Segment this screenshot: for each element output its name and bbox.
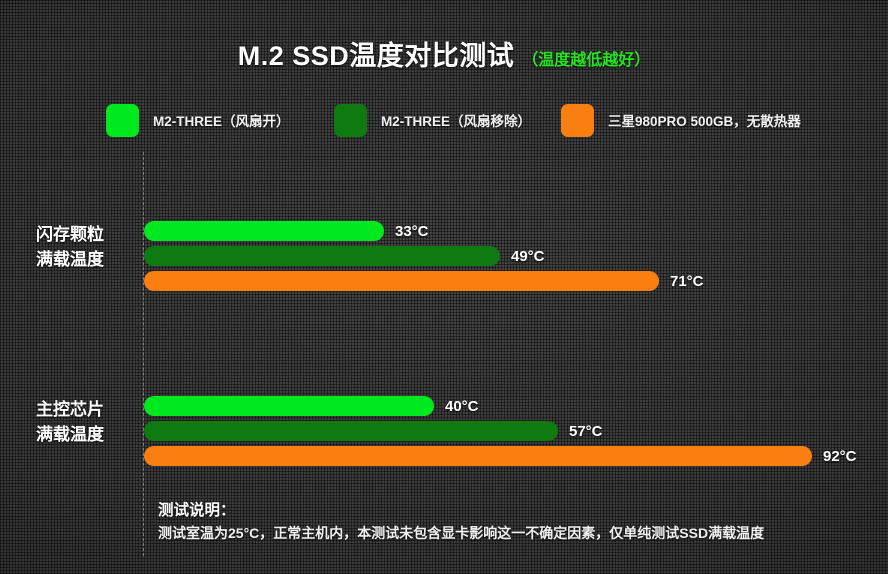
category-label-line: 满载温度 (36, 422, 136, 447)
bar (144, 271, 659, 291)
footnote-title: 测试说明： (158, 500, 878, 522)
bar-row: 33°C (144, 221, 429, 241)
bar (144, 246, 500, 266)
axis-baseline (143, 152, 144, 556)
bar (144, 446, 812, 466)
legend-swatch-icon (334, 104, 367, 137)
bar-value-label: 40°C (445, 398, 479, 415)
category-label-line: 满载温度 (36, 247, 136, 272)
legend-item: 三星980PRO 500GB，无散热器 (561, 103, 801, 137)
category-label: 主控芯片满载温度 (36, 397, 136, 447)
bar-row: 92°C (144, 446, 857, 466)
legend-item: M2-THREE（风扇开） (106, 103, 290, 137)
legend-item-label: M2-THREE（风扇移除） (381, 110, 531, 130)
title-main-text: M.2 SSD温度对比测试 (238, 41, 515, 71)
bar-value-label: 33°C (395, 223, 429, 240)
category-label-line: 闪存颗粒 (36, 222, 136, 247)
bar-row: 49°C (144, 246, 545, 266)
legend: M2-THREE（风扇开）M2-THREE（风扇移除）三星980PRO 500G… (106, 103, 826, 137)
bar-value-label: 49°C (511, 248, 545, 265)
bar (144, 396, 434, 416)
bar-row: 40°C (144, 396, 479, 416)
legend-swatch-icon (106, 104, 139, 137)
legend-item: M2-THREE（风扇移除） (334, 103, 531, 137)
chart-canvas: M.2 SSD温度对比测试（温度越低越好） M2-THREE（风扇开）M2-TH… (0, 0, 888, 574)
legend-item-label: M2-THREE（风扇开） (153, 110, 290, 130)
bar-row: 57°C (144, 421, 603, 441)
category-label-line: 主控芯片 (36, 397, 136, 422)
footnote-body: 测试室温为25°C，正常主机内，本测试未包含显卡影响这一不确定因素，仅单纯测试S… (158, 522, 878, 544)
title-note-text: （温度越低越好） (522, 52, 650, 69)
bar-value-label: 57°C (569, 423, 603, 440)
legend-item-label: 三星980PRO 500GB，无散热器 (608, 110, 801, 130)
bar-value-label: 92°C (823, 448, 857, 465)
bar (144, 421, 558, 441)
footnote: 测试说明： 测试室温为25°C，正常主机内，本测试未包含显卡影响这一不确定因素，… (158, 500, 878, 544)
bar-value-label: 71°C (670, 273, 704, 290)
page-title: M.2 SSD温度对比测试（温度越低越好） (0, 34, 888, 73)
bar (144, 221, 384, 241)
category-label: 闪存颗粒满载温度 (36, 222, 136, 272)
legend-swatch-icon (561, 104, 594, 137)
bar-row: 71°C (144, 271, 704, 291)
